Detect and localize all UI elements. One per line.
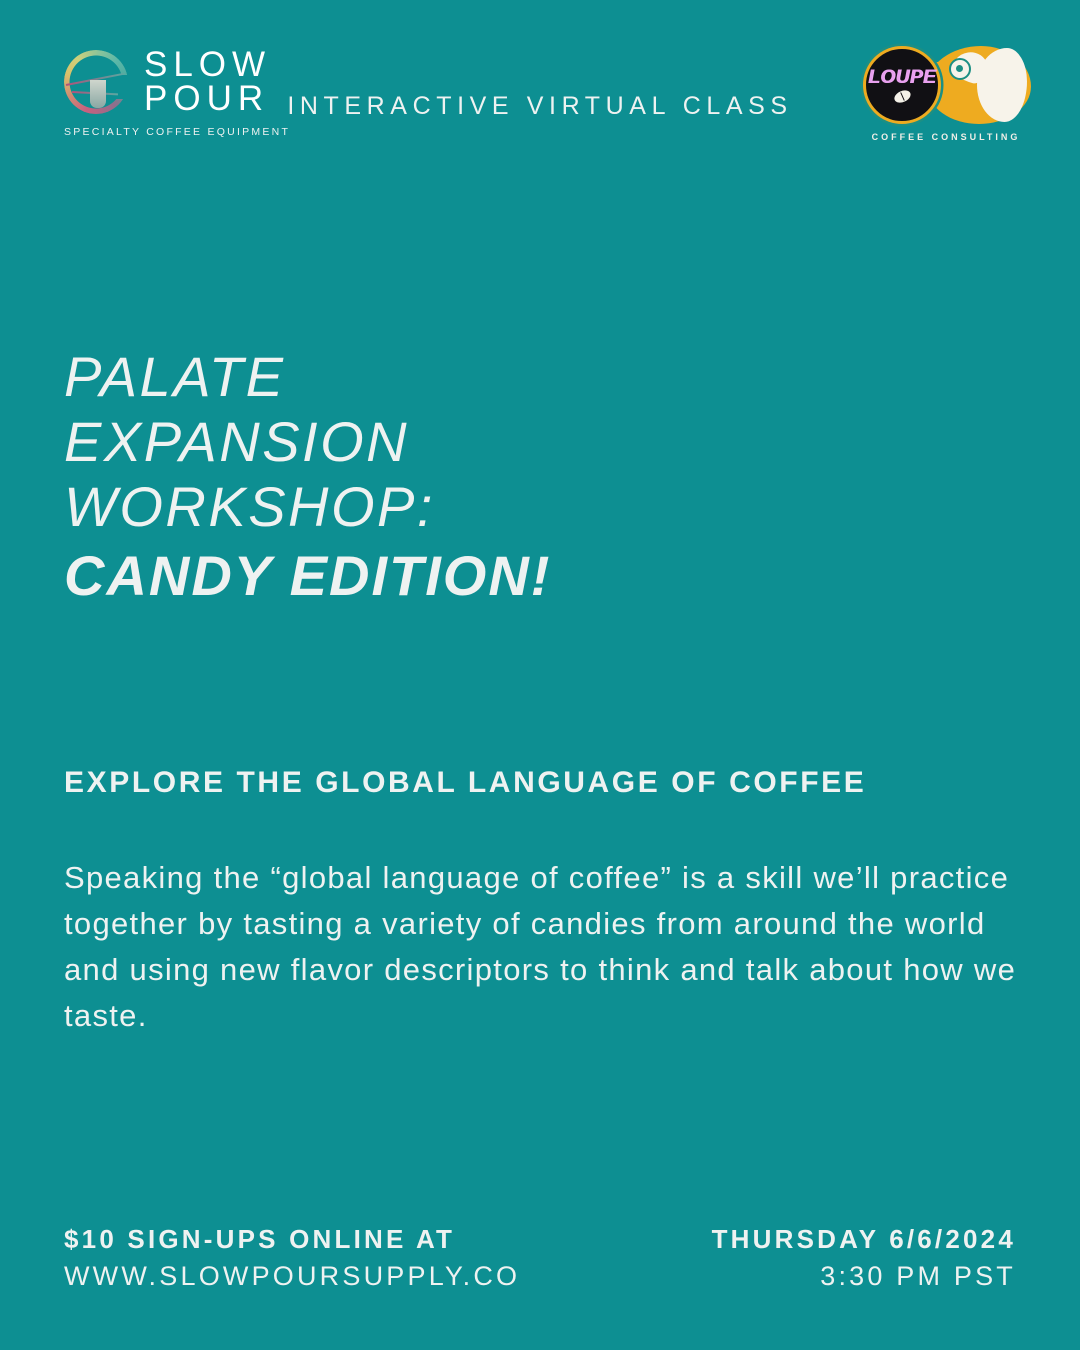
poster-footer: $10 SIGN-UPS ONLINE AT WWW.SLOWPOURSUPPL… <box>64 1222 1016 1296</box>
website-link[interactable]: WWW.SLOWPOURSUPPLY.CO <box>64 1257 520 1296</box>
page-title: PALATE EXPANSION WORKSHOP: CANDY EDITION… <box>64 345 864 609</box>
event-date: THURSDAY 6/6/2024 <box>712 1222 1016 1257</box>
title-accent-line: CANDY EDITION! <box>64 544 864 609</box>
loupe-logo[interactable]: LOUPE COFFEE CONSULTING <box>860 44 1032 142</box>
signup-price-label: $10 SIGN-UPS ONLINE AT <box>64 1222 520 1257</box>
signup-info: $10 SIGN-UPS ONLINE AT WWW.SLOWPOURSUPPL… <box>64 1222 520 1296</box>
title-line-3: WORKSHOP: <box>64 475 864 540</box>
section-subhead: EXPLORE THE GLOBAL LANGUAGE OF COFFEE <box>64 766 866 800</box>
title-line-1: PALATE <box>64 345 864 410</box>
description-paragraph: Speaking the “global language of coffee”… <box>64 855 1044 1039</box>
loupe-wordmark: LOUPE <box>868 68 936 87</box>
description-text: Speaking the “global language of coffee”… <box>64 855 1044 1039</box>
magnifying-loupe-icon: LOUPE <box>861 44 1031 126</box>
loupe-tagline: COFFEE CONSULTING <box>872 132 1021 142</box>
slow-pour-tagline: SPECIALTY COFFEE EQUIPMENT <box>64 126 290 138</box>
schedule-info: THURSDAY 6/6/2024 3:30 PM PST <box>712 1222 1016 1296</box>
coffee-bean-icon <box>892 88 912 105</box>
promo-poster: SLOW POUR SPECIALTY COFFEE EQUIPMENT INT… <box>0 0 1080 1350</box>
loupe-small-lens-icon <box>949 58 971 80</box>
poster-header: SLOW POUR SPECIALTY COFFEE EQUIPMENT INT… <box>0 0 1080 180</box>
loupe-lens-disc: LOUPE <box>863 46 941 124</box>
event-time: 3:30 PM PST <box>820 1257 1016 1296</box>
title-line-2: EXPANSION <box>64 410 864 475</box>
slow-pour-word-1: SLOW <box>144 48 271 82</box>
